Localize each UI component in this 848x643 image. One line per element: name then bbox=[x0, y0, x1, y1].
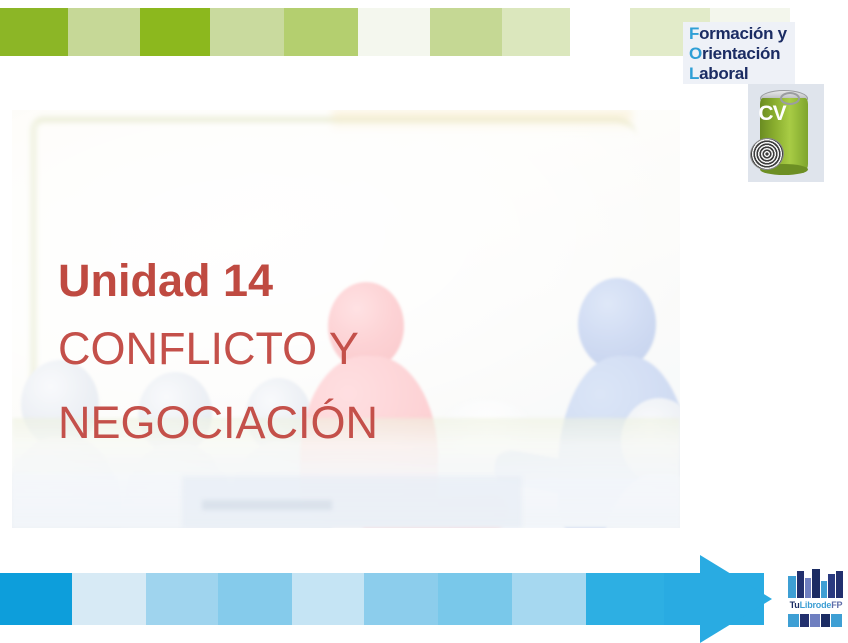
strip-block-5 bbox=[831, 614, 842, 627]
page-title-line2: NEGOCIACIÓN bbox=[58, 386, 658, 460]
strip-block-2 bbox=[800, 614, 809, 627]
cv-can-graphic: CV bbox=[748, 84, 824, 182]
book-spine-5 bbox=[821, 581, 827, 598]
book-spine-7 bbox=[836, 571, 843, 598]
strip-block-4 bbox=[821, 614, 830, 627]
page-title-line1: CONFLICTO Y bbox=[58, 312, 658, 386]
strip-block-3 bbox=[810, 614, 820, 627]
page-title-unit: Unidad 14 bbox=[58, 250, 658, 312]
book-spine-2 bbox=[797, 571, 804, 598]
book-spine-4 bbox=[812, 569, 820, 598]
books-icon bbox=[786, 568, 846, 598]
green-square-8 bbox=[502, 8, 570, 56]
fol-cap-f: F bbox=[689, 24, 699, 43]
slide-title: Unidad 14 CONFLICTO Y NEGOCIACIÓN bbox=[58, 250, 658, 460]
tulibrodefp-label: TuLibrodeFP bbox=[786, 600, 846, 610]
slide-canvas: Formación y Orientación Laboral CV bbox=[0, 0, 848, 636]
tulibrodefp-logo: TuLibrodeFP bbox=[786, 568, 846, 630]
tlfp-part-librode: Librode bbox=[800, 600, 832, 610]
fol-rest-formacion: ormación y bbox=[699, 24, 787, 43]
fol-line-orientacion: Orientación bbox=[689, 44, 791, 64]
fol-cap-o: O bbox=[689, 44, 702, 63]
blue-square-9 bbox=[586, 573, 664, 625]
fol-rest-laboral: aboral bbox=[699, 64, 748, 83]
tlfp-part-fp: FP bbox=[831, 600, 842, 610]
arrow-right-icon bbox=[700, 555, 772, 643]
blue-square-5 bbox=[292, 573, 364, 625]
blue-square-3 bbox=[146, 573, 218, 625]
strip-block-1 bbox=[788, 614, 799, 627]
green-square-4 bbox=[210, 8, 284, 56]
tlfp-part-tu: Tu bbox=[790, 600, 800, 610]
formacion-orientacion-laboral-logo: Formación y Orientación Laboral bbox=[683, 22, 795, 84]
blue-square-8 bbox=[512, 573, 586, 625]
fol-line-formacion: Formación y bbox=[689, 24, 791, 44]
book-spine-3 bbox=[805, 578, 811, 598]
green-square-1 bbox=[0, 8, 68, 56]
blue-square-4 bbox=[218, 573, 292, 625]
green-square-3 bbox=[140, 8, 210, 56]
blue-square-7 bbox=[438, 573, 512, 625]
book-spine-1 bbox=[788, 576, 796, 598]
tulibrodefp-color-strip bbox=[788, 614, 844, 627]
green-square-7 bbox=[430, 8, 502, 56]
blue-square-1 bbox=[0, 573, 72, 625]
can-cv-label: CV bbox=[748, 102, 796, 126]
fol-line-laboral: Laboral bbox=[689, 64, 791, 84]
fol-rest-orientacion: rientación bbox=[702, 44, 780, 63]
blue-square-arrow-banner bbox=[0, 573, 848, 625]
book-spine-6 bbox=[828, 574, 835, 598]
blue-square-6 bbox=[364, 573, 438, 625]
blue-square-2 bbox=[72, 573, 146, 625]
green-square-6 bbox=[358, 8, 430, 56]
fol-cap-l: L bbox=[689, 64, 699, 83]
green-square-5 bbox=[284, 8, 358, 56]
green-square-2 bbox=[68, 8, 140, 56]
